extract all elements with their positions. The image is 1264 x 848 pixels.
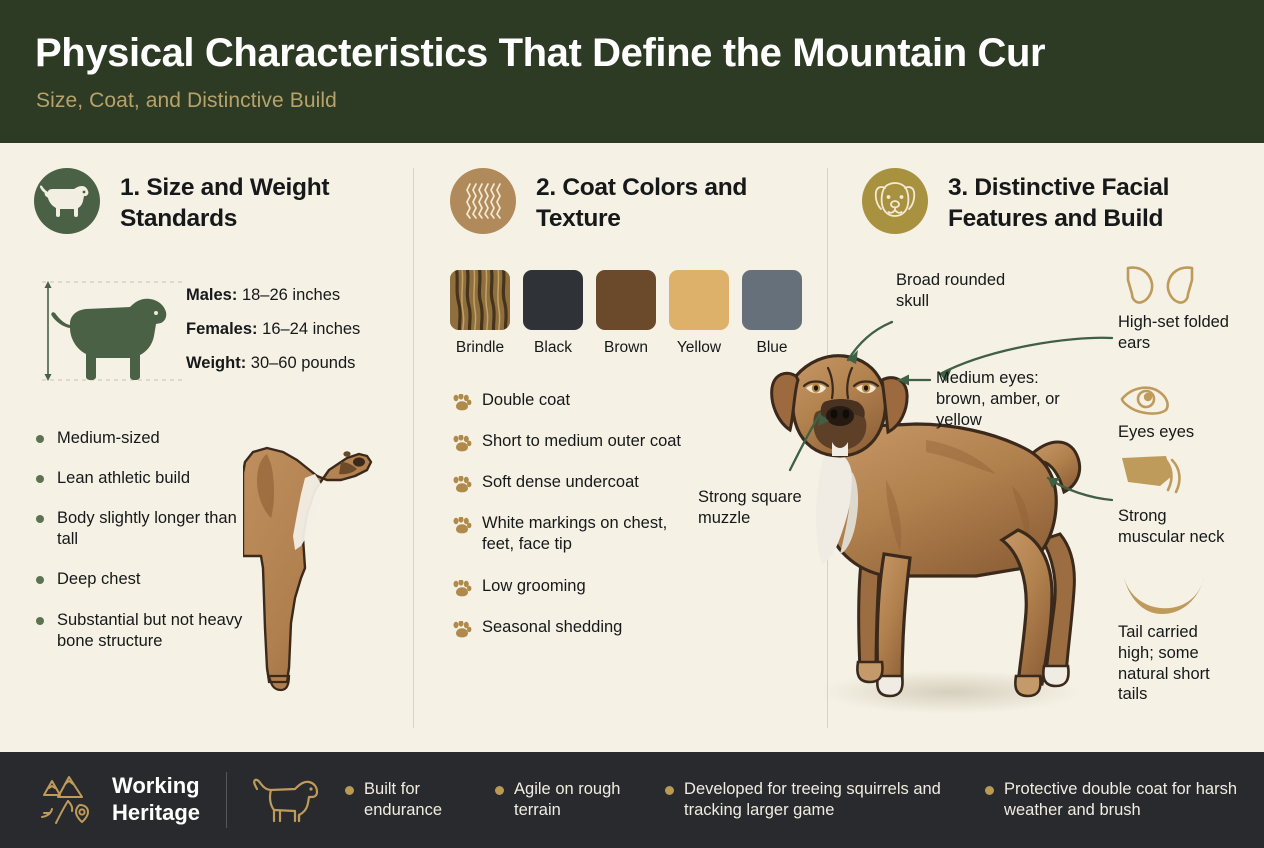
footer-bullet-icon xyxy=(985,786,994,795)
bullet-dot-icon xyxy=(36,435,44,443)
list-item: Body slightly longer than tall xyxy=(36,508,256,550)
swatch-chip xyxy=(523,270,583,330)
side-annotation-neck: Strong muscular neck xyxy=(1118,452,1238,548)
header-banner: Physical Characteristics That Define the… xyxy=(0,0,1264,143)
swatch-black: Black xyxy=(523,270,583,357)
curved-tail-icon xyxy=(1118,572,1238,618)
bullet-dot-icon xyxy=(36,515,44,523)
section-1-heading: 1. Size and Weight Standards xyxy=(34,168,404,235)
footer-bullet-icon xyxy=(345,786,354,795)
footer-bullet-icon xyxy=(495,786,504,795)
paw-print-icon xyxy=(452,394,472,411)
annotation-broad-rounded-skull: Broad rounded skull xyxy=(896,270,1036,312)
stat-label-males: Males: xyxy=(186,286,237,304)
list-item-label: White markings on chest, feet, face tip xyxy=(482,513,682,555)
list-item-label: Lean athletic build xyxy=(57,468,190,489)
page-title: Physical Characteristics That Define the… xyxy=(35,31,1045,76)
stat-value-males: 18–26 inches xyxy=(242,286,340,304)
footer-item-label: Protective double coat for harsh weather… xyxy=(1004,779,1255,822)
paw-print-icon xyxy=(452,621,472,638)
section-2-heading: 2. Coat Colors and Texture xyxy=(450,168,810,235)
paw-print-icon xyxy=(452,517,472,534)
side-annotation-label: High-set folded ears xyxy=(1118,312,1238,354)
page-subtitle: Size, Coat, and Distinctive Build xyxy=(36,89,337,113)
list-item: Medium-sized xyxy=(36,428,256,449)
stat-row-females: Females: 16–24 inches xyxy=(186,320,406,339)
coat-texture-icon xyxy=(450,168,516,234)
footer-separator xyxy=(226,772,227,828)
list-item: Short to medium outer coat xyxy=(452,431,682,452)
footer-brand-text: Working Heritage xyxy=(112,773,200,827)
footer-bullet-icon xyxy=(665,786,674,795)
swatch-label: Brindle xyxy=(450,339,510,357)
section-1-title: 1. Size and Weight Standards xyxy=(120,168,404,235)
side-annotation-label: Eyes eyes xyxy=(1118,422,1238,443)
paw-print-icon xyxy=(452,435,472,452)
section-2-title: 2. Coat Colors and Texture xyxy=(536,168,810,235)
side-annotation-eyes: Eyes eyes xyxy=(1118,382,1238,443)
list-item: Soft dense undercoat xyxy=(452,472,682,493)
dog-outline-icon xyxy=(251,773,323,827)
swatch-chip xyxy=(669,270,729,330)
swatch-chip xyxy=(450,270,510,330)
bullet-dot-icon xyxy=(36,475,44,483)
dog-illustration-partial xyxy=(243,418,393,718)
side-annotation-ears: High-set folded ears xyxy=(1118,262,1238,354)
footer-item-list: Built for endurance Agile on rough terra… xyxy=(345,779,1255,822)
size-stats-list: Males: 18–26 inches Females: 16–24 inche… xyxy=(186,286,406,388)
footer-brand: Working Heritage xyxy=(38,773,200,827)
stat-row-weight: Weight: 30–60 pounds xyxy=(186,354,406,373)
list-item-label: Deep chest xyxy=(57,569,140,590)
list-item-label: Soft dense undercoat xyxy=(482,472,639,493)
list-item-label: Low grooming xyxy=(482,576,586,597)
bullet-dot-icon xyxy=(36,576,44,584)
section-1-bullet-list: Medium-sized Lean athletic build Body sl… xyxy=(36,428,256,671)
swatch-chip xyxy=(596,270,656,330)
stat-label-females: Females: xyxy=(186,320,258,338)
eye-icon xyxy=(1118,382,1238,418)
list-item: Seasonal shedding xyxy=(452,617,682,638)
dog-face-icon xyxy=(862,168,928,234)
swatch-label: Yellow xyxy=(669,339,729,357)
list-item-label: Short to medium outer coat xyxy=(482,431,681,452)
mountain-trail-icon xyxy=(38,773,96,827)
footer-item: Protective double coat for harsh weather… xyxy=(985,779,1255,822)
list-item-label: Double coat xyxy=(482,390,570,411)
swatch-yellow: Yellow xyxy=(669,270,729,357)
footer-brand-line1: Working xyxy=(112,773,200,800)
footer-item: Developed for treeing squirrels and trac… xyxy=(665,779,955,822)
list-item: Double coat xyxy=(452,390,682,411)
footer-item-label: Developed for treeing squirrels and trac… xyxy=(684,779,955,822)
list-item-label: Medium-sized xyxy=(57,428,160,449)
folded-ears-icon xyxy=(1118,262,1238,308)
footer-brand-line2: Heritage xyxy=(112,800,200,827)
swatch-brindle: Brindle xyxy=(450,270,510,357)
section-2-bullet-list: Double coat Short to medium outer coat xyxy=(452,390,682,658)
column-divider-1 xyxy=(413,168,414,728)
annotation-strong-square-muzzle: Strong square muzzle xyxy=(698,487,808,529)
infographic-root: Physical Characteristics That Define the… xyxy=(0,0,1264,848)
stat-value-weight: 30–60 pounds xyxy=(251,354,356,372)
side-annotation-tail: Tail carried high; some natural short ta… xyxy=(1118,572,1238,705)
paw-print-icon xyxy=(452,580,472,597)
stat-value-females: 16–24 inches xyxy=(262,320,360,338)
section-3-title: 3. Distinctive Facial Features and Build xyxy=(948,168,1252,235)
dog-side-silhouette-icon xyxy=(34,168,100,234)
swatch-label: Brown xyxy=(596,339,656,357)
stat-row-males: Males: 18–26 inches xyxy=(186,286,406,305)
stat-label-weight: Weight: xyxy=(186,354,246,372)
footer-item-label: Built for endurance xyxy=(364,779,465,822)
footer-item: Built for endurance xyxy=(345,779,465,822)
list-item: White markings on chest, feet, face tip xyxy=(452,513,682,555)
list-item: Low grooming xyxy=(452,576,682,597)
swatch-chip xyxy=(742,270,802,330)
list-item: Substantial but not heavy bone structure xyxy=(36,610,256,652)
footer-item: Agile on rough terrain xyxy=(495,779,635,822)
footer-item-label: Agile on rough terrain xyxy=(514,779,635,822)
size-diagram xyxy=(34,272,194,390)
paw-print-icon xyxy=(452,476,472,493)
side-annotation-label: Strong muscular neck xyxy=(1118,506,1238,548)
section-3-heading: 3. Distinctive Facial Features and Build xyxy=(862,168,1252,235)
coat-color-swatches: Brindle Black Brown Yellow Blue xyxy=(450,270,802,357)
swatch-brown: Brown xyxy=(596,270,656,357)
swatch-label: Black xyxy=(523,339,583,357)
list-item-label: Body slightly longer than tall xyxy=(57,508,256,550)
side-annotation-label: Tail carried high; some natural short ta… xyxy=(1118,622,1238,705)
list-item: Lean athletic build xyxy=(36,468,256,489)
list-item-label: Substantial but not heavy bone structure xyxy=(57,610,256,652)
muscular-neck-icon xyxy=(1118,452,1238,502)
list-item: Deep chest xyxy=(36,569,256,590)
annotation-medium-eyes: Medium eyes: brown, amber, or yellow xyxy=(936,368,1076,430)
list-item-label: Seasonal shedding xyxy=(482,617,622,638)
footer-bar: Working Heritage Built for xyxy=(0,752,1264,848)
bullet-dot-icon xyxy=(36,617,44,625)
